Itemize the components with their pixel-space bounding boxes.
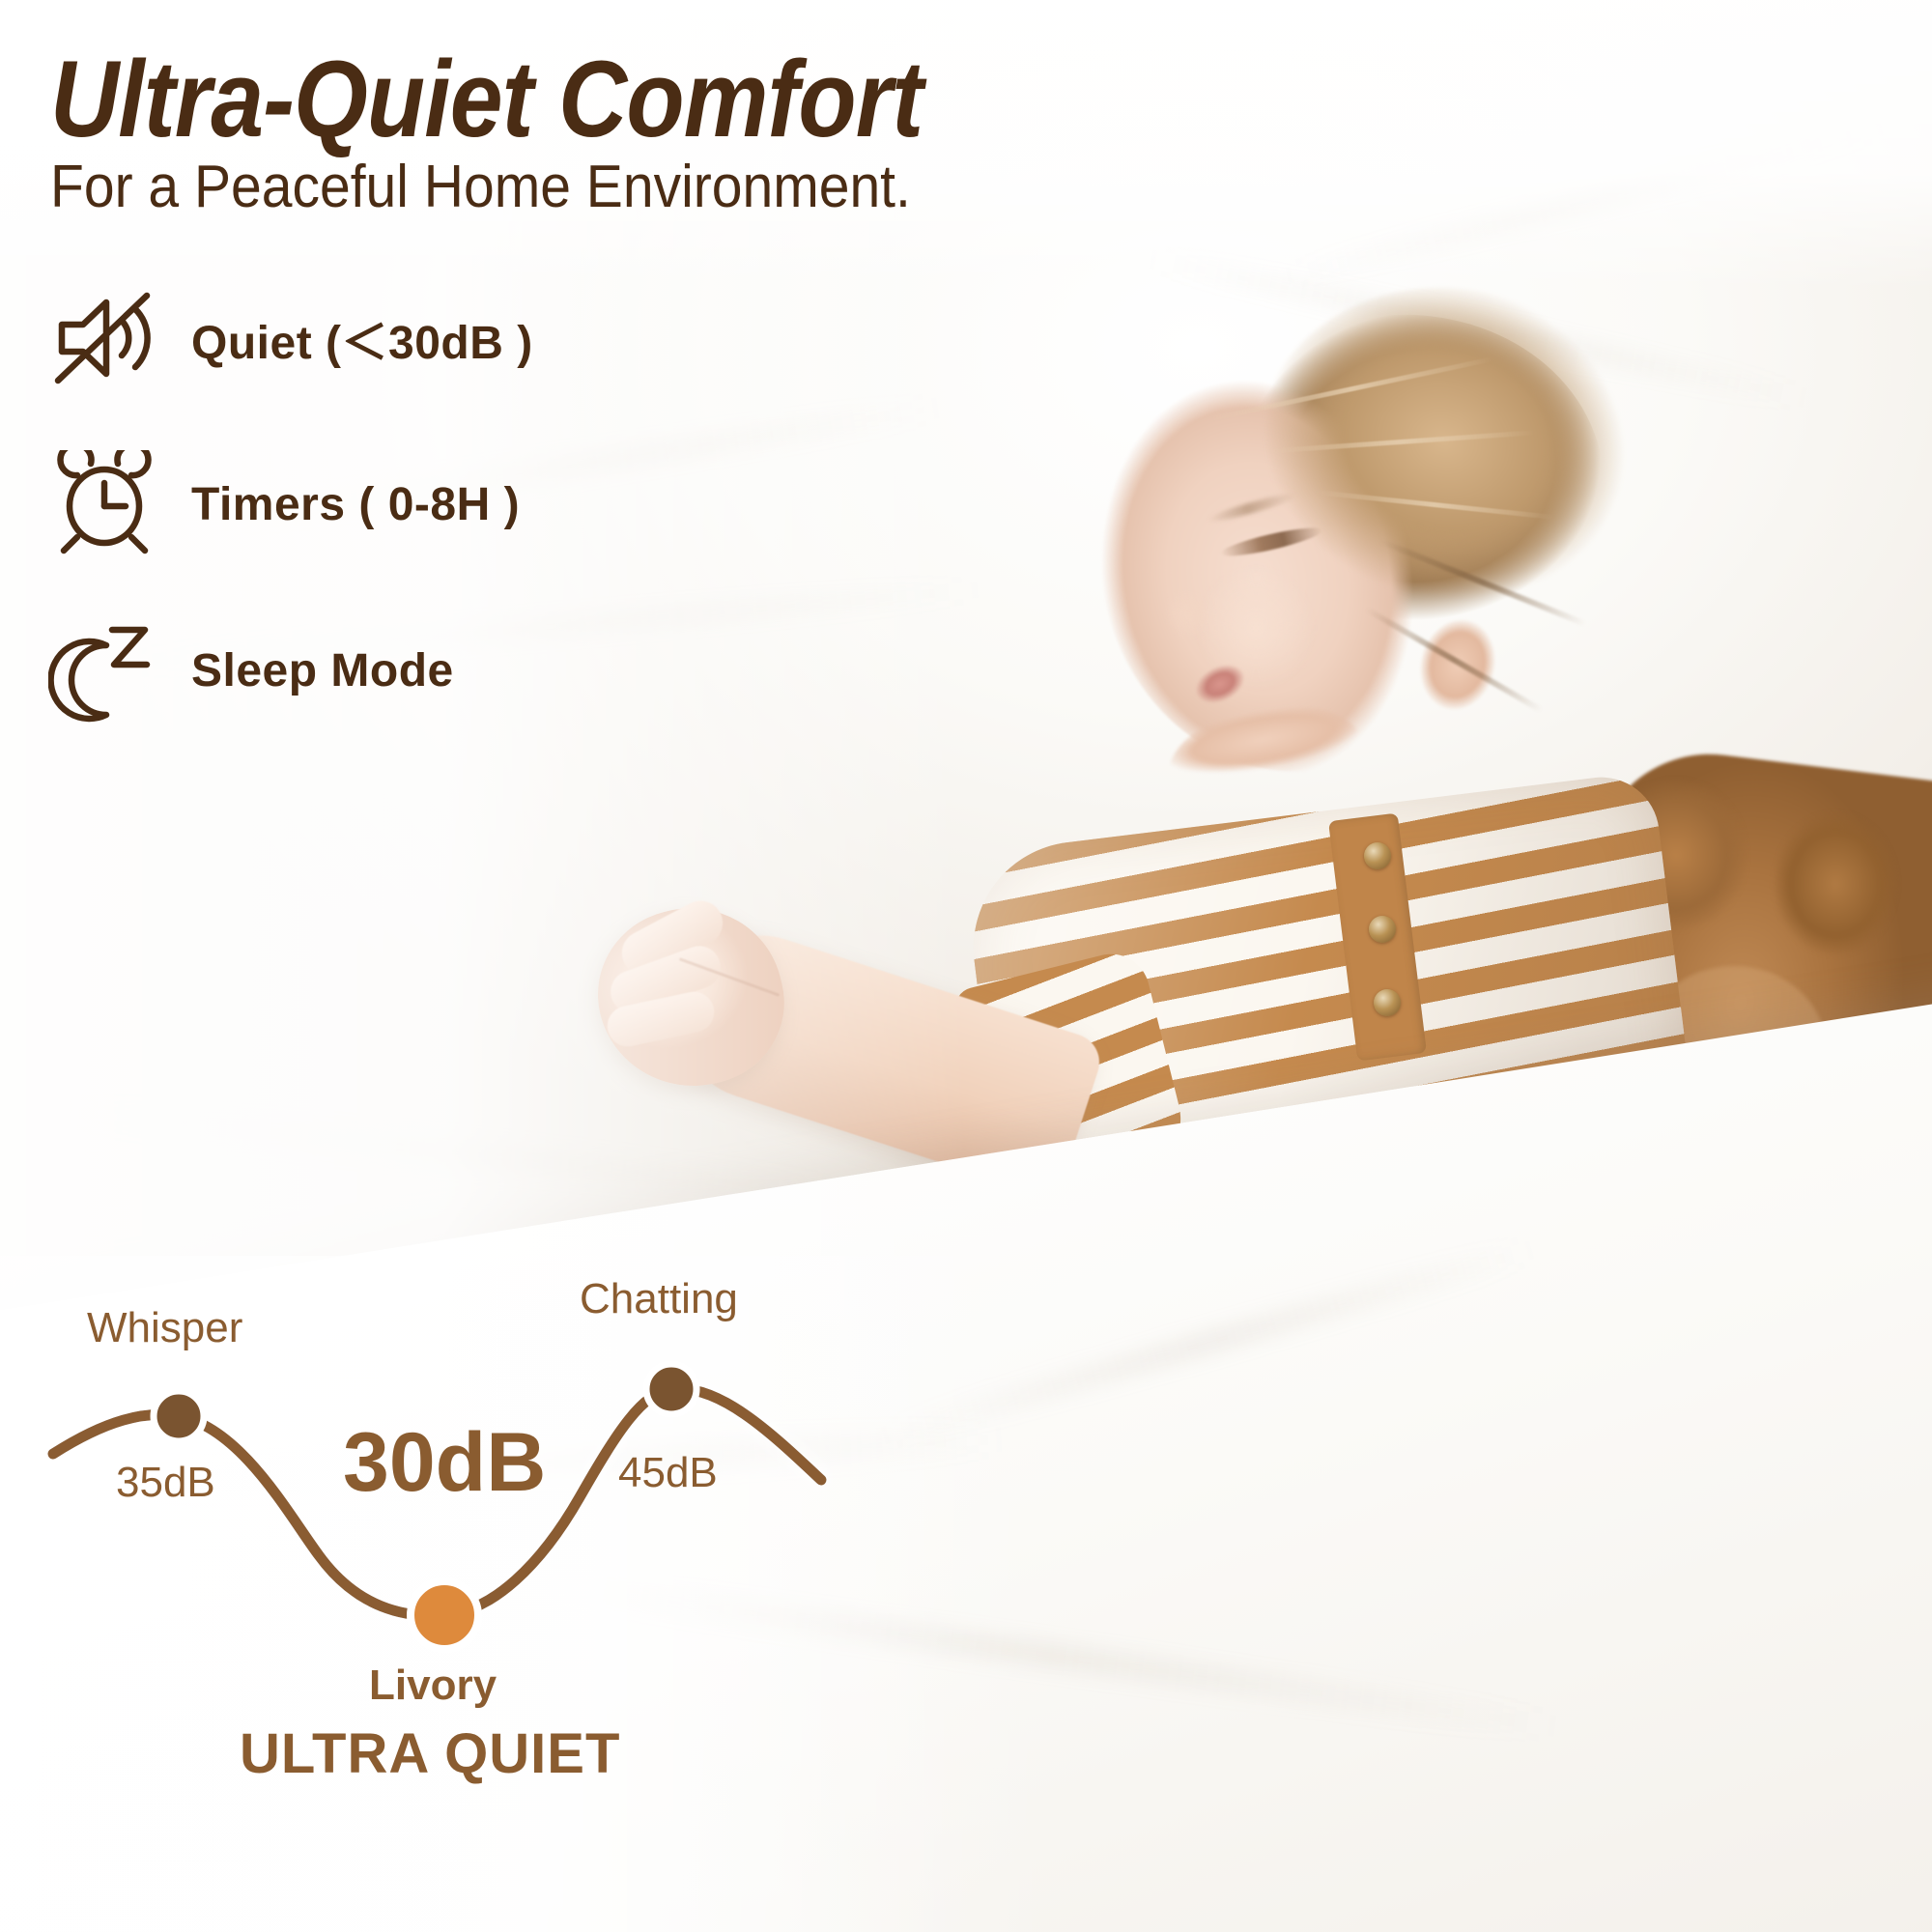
whisper-value: 35dB bbox=[116, 1459, 215, 1507]
livory-point[interactable] bbox=[411, 1581, 478, 1649]
livory-db-value: 30dB bbox=[343, 1415, 546, 1511]
shirt-button bbox=[1374, 989, 1401, 1016]
feature-label: Quiet (＜30dB ) bbox=[191, 304, 533, 372]
infographic-canvas: Ultra-Quiet Comfort For a Peaceful Home … bbox=[0, 0, 1932, 1932]
livory-product-label: Livory bbox=[369, 1662, 497, 1710]
feature-list: Quiet (＜30dB ) Timers ( 0-8H ) bbox=[48, 280, 744, 779]
feature-item-timers: Timers ( 0-8H ) bbox=[48, 446, 744, 562]
moon-sleep-icon bbox=[48, 616, 164, 724]
ultra-quiet-tagline: ULTRA QUIET bbox=[240, 1721, 620, 1786]
chatting-point bbox=[646, 1364, 696, 1414]
teddy-bear-ear bbox=[1773, 811, 1898, 956]
page-subtitle: For a Peaceful Home Environment. bbox=[50, 153, 911, 221]
whisper-point bbox=[154, 1391, 204, 1441]
feature-label: Sleep Mode bbox=[191, 644, 454, 697]
page-title: Ultra-Quiet Comfort bbox=[50, 37, 923, 161]
noise-curve bbox=[0, 1275, 966, 1893]
feature-item-quiet: Quiet (＜30dB ) bbox=[48, 280, 744, 396]
shirt-button bbox=[1364, 842, 1391, 869]
feature-label: Timers ( 0-8H ) bbox=[191, 478, 520, 531]
chatting-value: 45dB bbox=[618, 1449, 718, 1497]
feature-item-sleep: Sleep Mode bbox=[48, 612, 744, 728]
shirt-button bbox=[1369, 916, 1396, 943]
noise-comparison-chart: Whisper 35dB Chatting 45dB 30dB Livory U… bbox=[0, 1275, 966, 1893]
chatting-label: Chatting bbox=[580, 1275, 738, 1323]
speaker-mute-icon bbox=[48, 284, 164, 392]
alarm-clock-icon bbox=[48, 450, 164, 558]
whisper-label: Whisper bbox=[87, 1304, 242, 1352]
